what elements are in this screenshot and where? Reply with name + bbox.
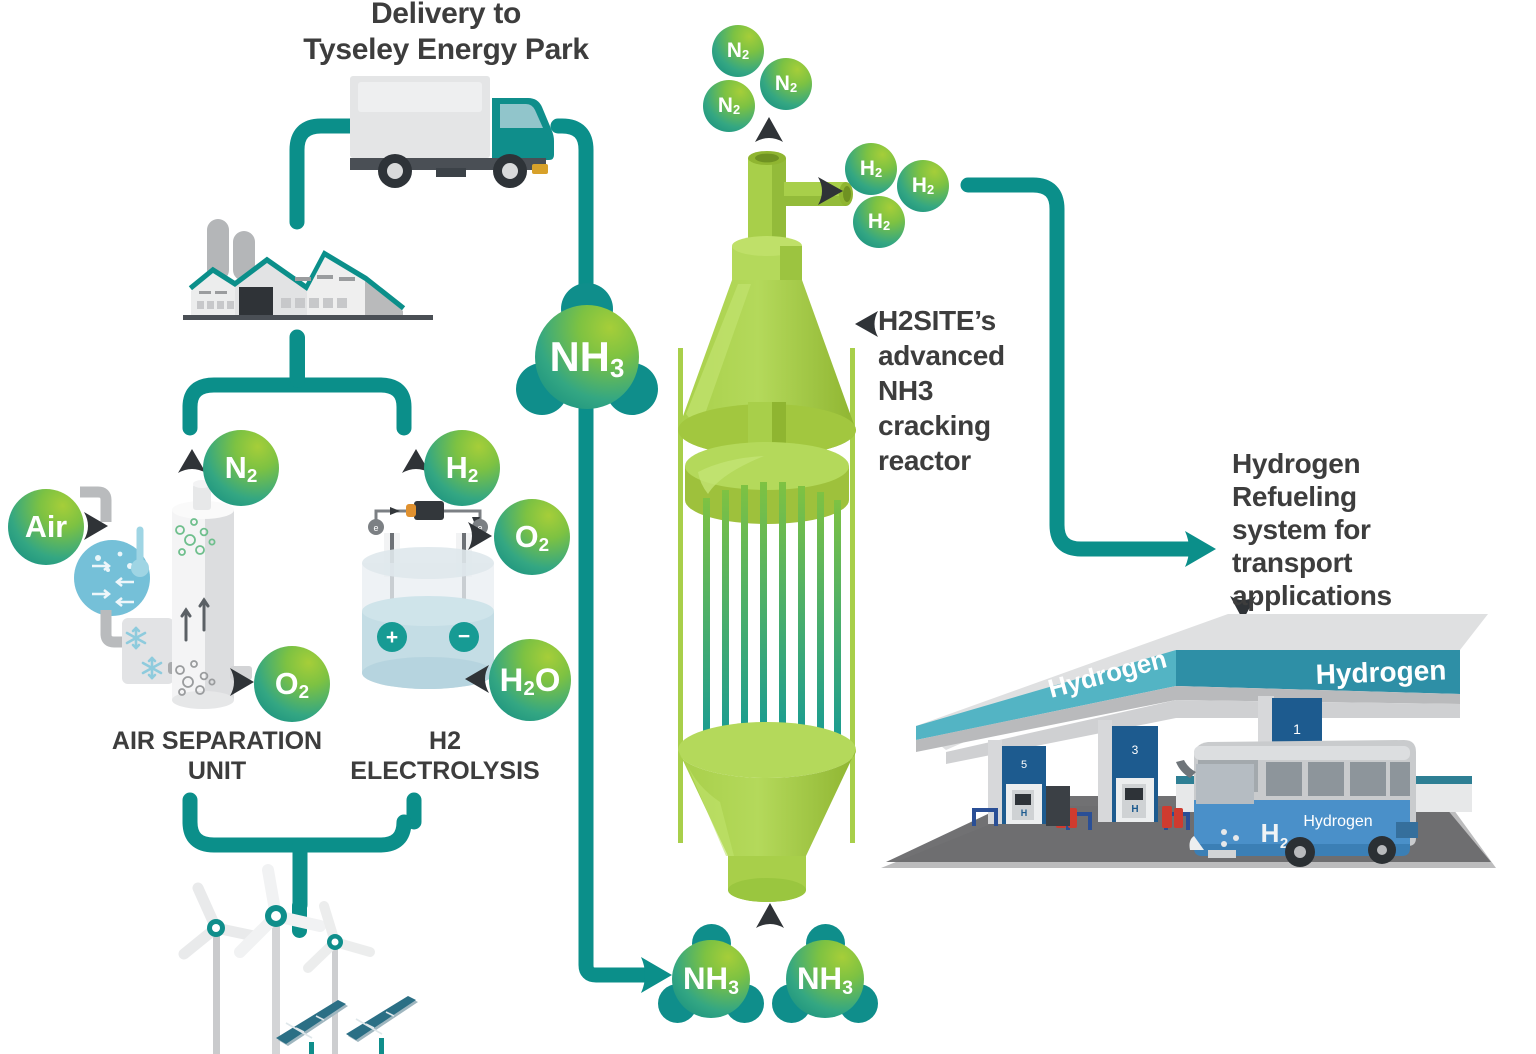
- arrow-electrolysis-to-o2: [466, 518, 496, 554]
- molecule-label: H2: [446, 453, 479, 483]
- station-cabinet: [1046, 786, 1070, 826]
- arrow-reactor-caption: [852, 308, 880, 338]
- circuit-arrow-left: [390, 507, 400, 515]
- molecule-label: H2O: [500, 664, 561, 697]
- molecule-bubble-h2-out-2: H2: [897, 160, 949, 212]
- reactor-neck-shade: [780, 246, 802, 282]
- arrow-h2o-to-electrolysis: [461, 661, 491, 697]
- molecule-label: O2: [275, 669, 309, 699]
- molecule-label: H2: [868, 212, 890, 233]
- truck-wheel-rear-rim: [387, 163, 403, 179]
- beaker-liquid-surface: [362, 596, 494, 626]
- svg-text:1: 1: [1293, 721, 1301, 737]
- delivery-truck: [340, 70, 560, 192]
- molecule-bubble-h2o-elec: H2O: [489, 639, 571, 721]
- molecule-bubble-nh3-in-2: NH3: [786, 940, 864, 1018]
- truck-wheel-front-rim: [502, 163, 518, 179]
- arrowhead-to-station: [1185, 531, 1216, 567]
- molecule-label: NH3: [797, 963, 853, 994]
- anode-sign: +: [386, 626, 398, 649]
- electrolysis-label-line-1: H2: [300, 726, 590, 756]
- battery-cap: [406, 504, 416, 517]
- molecule-label: Air: [25, 512, 67, 542]
- pump-bay-3: 3 H: [1112, 726, 1158, 822]
- pipe-tick-factory: [290, 330, 305, 388]
- solar-panel-2: [346, 996, 418, 1054]
- factory-ground: [183, 315, 433, 320]
- molecule-bubble-h2-out-3: H2: [853, 196, 905, 248]
- canopy-column-mid: [1098, 720, 1112, 822]
- refueling-caption-line-1: Hydrogen: [1232, 447, 1447, 480]
- reactor-caption-line-2: advanced: [878, 338, 1078, 373]
- reactor-bottom-spout-rim: [728, 878, 806, 902]
- svg-text:Hydrogen: Hydrogen: [1303, 813, 1372, 830]
- molecule-bubble-o2-elec: O2: [494, 499, 570, 575]
- molecule-bubble-n2-out-1: N2: [712, 25, 764, 77]
- wind-turbine-1: [184, 888, 254, 1054]
- cathode-sign: −: [458, 625, 470, 648]
- molecule-label: NH3: [550, 336, 625, 378]
- arrow-reactor-h2-out: [816, 174, 846, 208]
- molecule-label: H2: [912, 176, 934, 197]
- pump-bay-5: 5 H: [1002, 746, 1046, 824]
- molecule-label: N2: [727, 41, 749, 62]
- molecule-label: O2: [515, 522, 549, 552]
- molecule-label: N2: [225, 453, 258, 483]
- truck-bumper: [532, 164, 548, 174]
- svg-text:H: H: [1261, 818, 1280, 848]
- reactor-lower-dome: [678, 722, 856, 778]
- molecule-label: N2: [775, 74, 797, 95]
- molecule-bubble-h2-elec: H2: [424, 430, 500, 506]
- refueling-caption-line-2: Refueling: [1232, 480, 1447, 513]
- hydrogen-bus: Hydrogen H 2: [1176, 740, 1418, 867]
- refueling-caption-line-4: transport: [1232, 546, 1447, 579]
- arrow-reactor-nh3-in: [753, 900, 787, 930]
- arrow-reactor-n2-out: [752, 114, 786, 144]
- wind-and-solar: [172, 860, 442, 1054]
- reactor-caption-line-1: H2SITE’s: [878, 303, 1078, 338]
- factory-door: [239, 287, 273, 315]
- svg-text:H: H: [1021, 808, 1028, 818]
- battery-body: [414, 501, 444, 520]
- molecule-bubble-h2-out-1: H2: [845, 143, 897, 195]
- arrow-air-to-asu: [82, 508, 112, 544]
- ammonia-plant: [175, 215, 450, 330]
- svg-text:5: 5: [1021, 759, 1027, 771]
- canopy-sign-right: Hydrogen: [1315, 654, 1447, 690]
- refueling-caption-line-3: system for: [1232, 513, 1447, 546]
- hydrogen-refueling-station: Hydrogen Hydrogen 5 H 3 H 1: [876, 600, 1501, 900]
- molecule-bubble-o2-asu: O2: [254, 646, 330, 722]
- molecule-bubble-nh3-main: NH3: [535, 305, 639, 409]
- molecule-label: N2: [718, 96, 740, 117]
- delivery-title-line-2: Tyseley Energy Park: [286, 32, 606, 68]
- reactor-caption-line-3: NH3: [878, 373, 1078, 408]
- svg-text:H: H: [1131, 804, 1138, 815]
- molecule-bubble-n2-out-3: N2: [703, 80, 755, 132]
- molecule-bubble-nh3-in-1: NH3: [672, 940, 750, 1018]
- reactor-top-pipe-shade: [772, 158, 786, 246]
- reactor-caption-line-5: reactor: [878, 443, 1078, 478]
- molecule-label: H2: [860, 159, 882, 180]
- truck-underskirt: [436, 168, 466, 177]
- factory-block-far-right: [365, 281, 403, 315]
- refueling-caption: Hydrogen Refueling system for transport …: [1232, 447, 1447, 612]
- nh3-cracking-reactor: [660, 140, 890, 915]
- molecule-bubble-n2-out-2: N2: [760, 58, 812, 110]
- svg-text:3: 3: [1132, 743, 1139, 757]
- reactor-top-pipe-bore: [755, 154, 779, 163]
- diagram-canvas: e e + −: [0, 0, 1536, 1054]
- pipe-truck-to-cracker: [558, 126, 645, 975]
- reactor-caption: H2SITE’s advanced NH3 cracking reactor: [878, 303, 1078, 478]
- delivery-title-line-1: Delivery to: [286, 0, 606, 32]
- molecule-bubble-n2-asu: N2: [203, 430, 279, 506]
- truck-box-highlight: [358, 82, 482, 112]
- refueling-caption-line-5: applications: [1232, 579, 1447, 612]
- h2-electrolysis-label: H2 ELECTROLYSIS: [300, 726, 590, 786]
- molecule-bubble-air: Air: [8, 489, 84, 565]
- electrolysis-label-line-2: ELECTROLYSIS: [300, 756, 590, 786]
- pipe-split-bar: [190, 385, 404, 428]
- electron-left-label: e: [373, 523, 378, 533]
- asu-chiller-box: [122, 618, 174, 684]
- asu-thermometer-bulb: [131, 559, 149, 577]
- reactor-caption-line-4: cracking: [878, 408, 1078, 443]
- page-title: Delivery to Tyseley Energy Park: [286, 0, 606, 68]
- molecule-label: NH3: [683, 963, 739, 994]
